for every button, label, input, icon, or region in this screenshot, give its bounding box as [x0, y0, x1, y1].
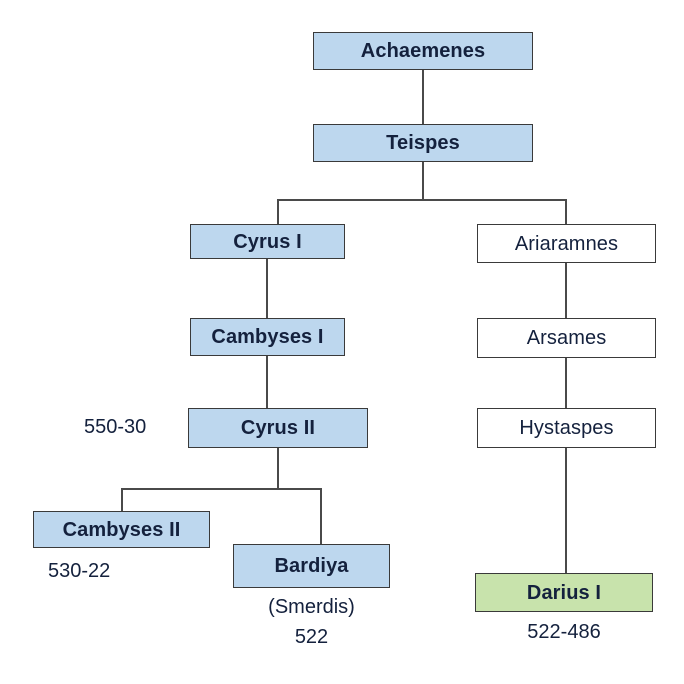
connector-cyrus-i-to-cambyses-i [266, 258, 268, 319]
node-label: Hystaspes [519, 418, 613, 438]
node-cyrus-i[interactable]: Cyrus I [190, 224, 345, 259]
node-label: Ariaramnes [515, 234, 618, 254]
node-cambyses-ii[interactable]: Cambyses II [33, 511, 210, 548]
node-label: Achaemenes [361, 41, 485, 61]
node-ariaramnes[interactable]: Ariaramnes [477, 224, 656, 263]
connector-cyrus-ii-split-bar [121, 488, 322, 490]
node-label: Teispes [386, 133, 460, 153]
annotation-text: 530-22 [48, 560, 110, 582]
connector-teispes-down [422, 161, 424, 201]
connector-ariaramnes-to-arsames [565, 263, 567, 319]
annotation-text: 522-486 [527, 621, 600, 643]
node-label: Cambyses II [63, 520, 181, 540]
annotation-cambyses-ii-reign: 530-22 [48, 561, 110, 581]
node-label: Arsames [527, 328, 607, 348]
annotation-text: 550-30 [84, 416, 146, 438]
connector-cyrus-ii-down [277, 447, 279, 489]
node-darius-i[interactable]: Darius I [475, 573, 653, 612]
connector-teispes-split-bar [277, 199, 567, 201]
connector-to-cyrus-i [277, 199, 279, 225]
node-hystaspes[interactable]: Hystaspes [477, 408, 656, 448]
node-cambyses-i[interactable]: Cambyses I [190, 318, 345, 356]
annotation-bardiya-reign: 522 [233, 627, 390, 647]
annotation-text: 522 [295, 626, 328, 648]
connector-cambyses-i-to-cyrus-ii [266, 355, 268, 409]
annotation-text: (Smerdis) [268, 596, 355, 618]
family-tree-diagram: Achaemenes Teispes Cyrus I Cambyses I Cy… [0, 0, 684, 684]
node-label: Darius I [527, 583, 601, 603]
annotation-darius-i-reign: 522-486 [475, 622, 653, 642]
connector-to-ariaramnes [565, 199, 567, 225]
node-achaemenes[interactable]: Achaemenes [313, 32, 533, 70]
node-label: Cambyses I [211, 327, 323, 347]
connector-arsames-to-hystaspes [565, 358, 567, 409]
connector-to-cambyses-ii [121, 488, 123, 512]
connector-to-bardiya [320, 488, 322, 545]
node-label: Cyrus II [241, 418, 315, 438]
annotation-bardiya-alt-name: (Smerdis) [233, 597, 390, 617]
connector-hystaspes-to-darius-i [565, 448, 567, 573]
connector-achaemenes-to-teispes [422, 69, 424, 125]
node-cyrus-ii[interactable]: Cyrus II [188, 408, 368, 448]
node-label: Bardiya [274, 556, 348, 576]
node-arsames[interactable]: Arsames [477, 318, 656, 358]
node-teispes[interactable]: Teispes [313, 124, 533, 162]
node-bardiya[interactable]: Bardiya [233, 544, 390, 588]
annotation-cyrus-ii-reign: 550-30 [84, 417, 146, 437]
node-label: Cyrus I [233, 232, 302, 252]
